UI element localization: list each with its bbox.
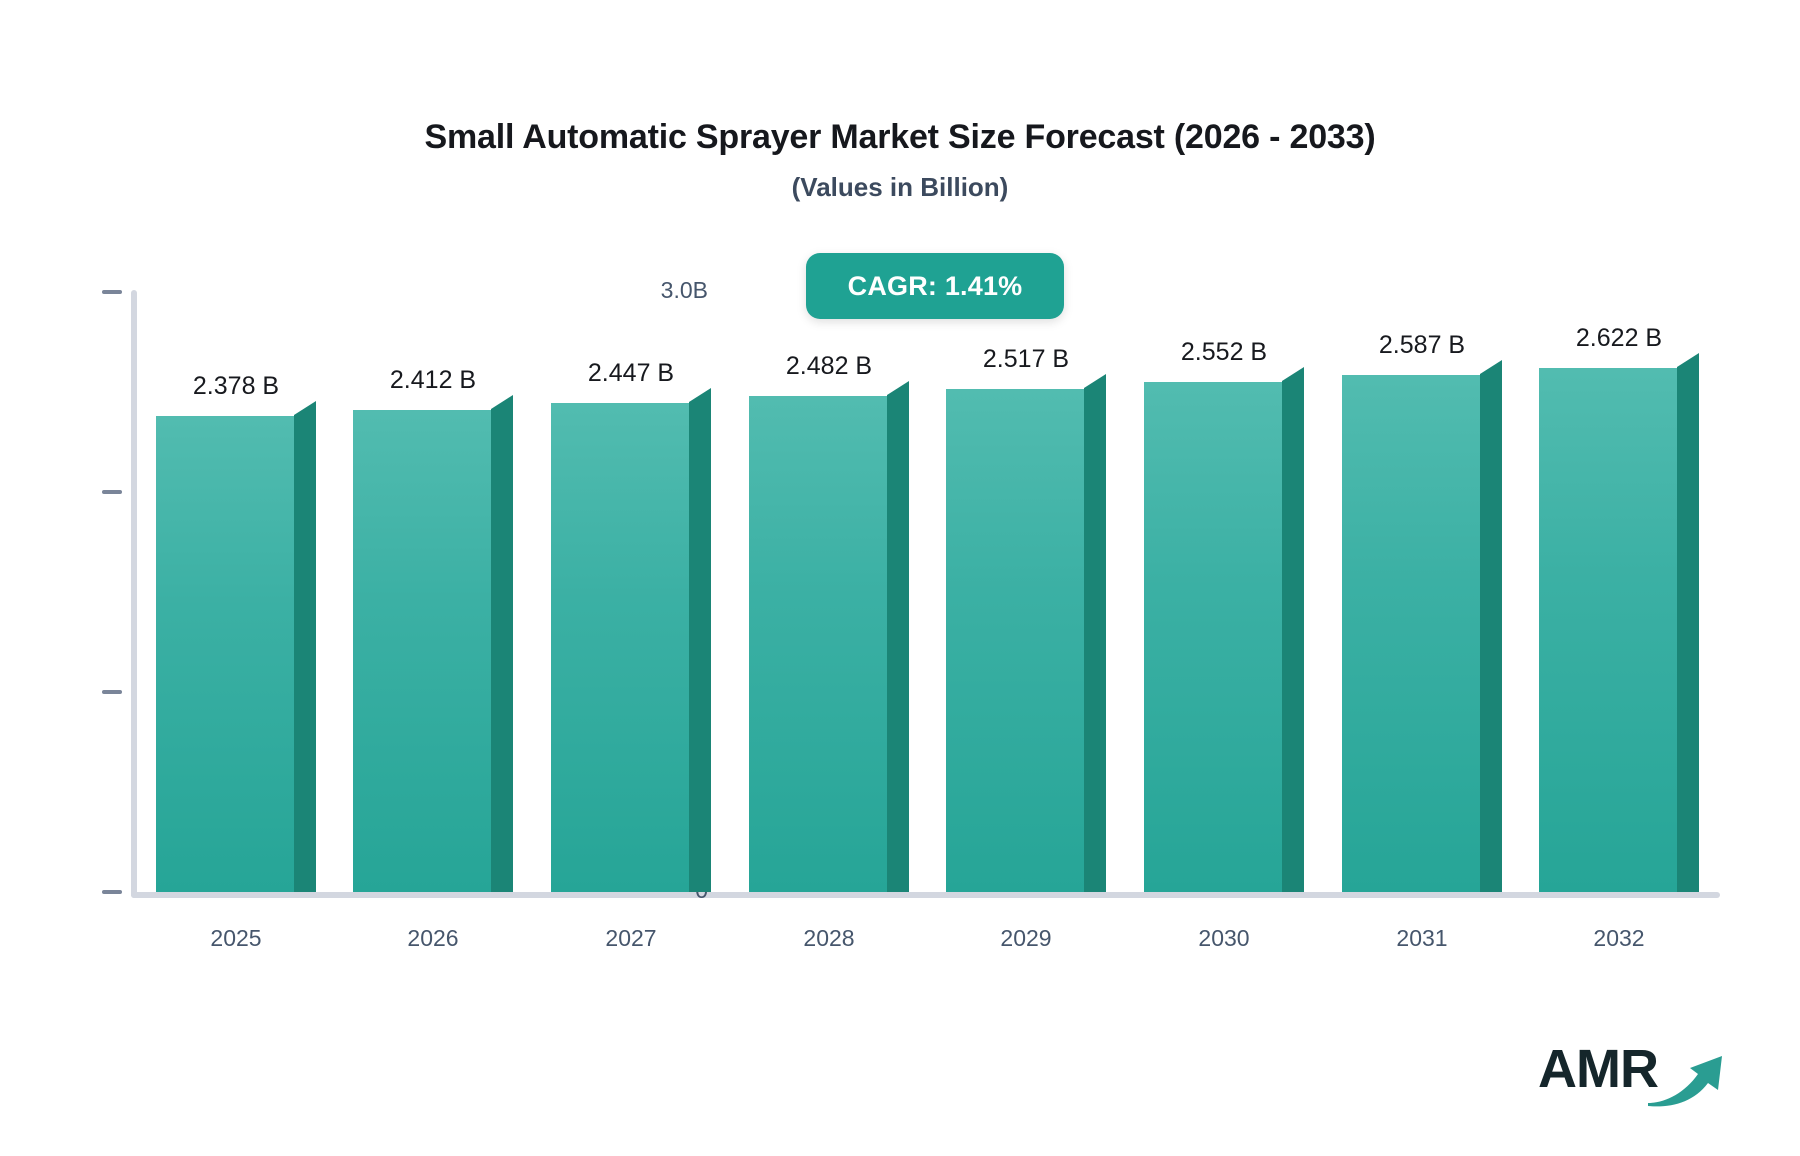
bar-side-face [294,401,316,892]
x-axis-line [131,892,1720,898]
x-axis-label: 2029 [946,925,1106,952]
bar-value-label: 2.412 B [353,366,513,395]
bar-front-face [1539,368,1677,892]
plot-area: 01.0B2.0B3.0B 2.378 B2.412 B2.447 B2.482… [0,0,1800,1156]
x-axis-label: 2026 [353,925,513,952]
x-axis-label: 2025 [156,925,316,952]
amr-logo: AMR [1538,1038,1728,1110]
bar-2031[interactable] [1342,375,1480,892]
bar-value-label: 2.482 B [749,352,909,381]
bar-value-label: 2.517 B [946,345,1106,374]
bar-front-face [353,410,491,892]
x-axis-label: 2030 [1144,925,1304,952]
bar-front-face [749,396,887,892]
x-axis-label: 2028 [749,925,909,952]
bar-2028[interactable] [749,396,887,892]
bar-2032[interactable] [1539,368,1677,892]
bar-side-face [1677,353,1699,892]
y-axis-tick [102,690,122,694]
bar-side-face [1282,367,1304,892]
chart-canvas: Small Automatic Sprayer Market Size Fore… [0,0,1800,1156]
bar-side-face [1480,360,1502,892]
bar-front-face [1342,375,1480,892]
bar-2030[interactable] [1144,382,1282,892]
y-axis-tick [102,290,122,294]
bar-side-face [491,395,513,892]
y-axis-tick [102,890,122,894]
bar-2027[interactable] [551,403,689,892]
bar-value-label: 2.622 B [1539,324,1699,353]
bar-front-face [551,403,689,892]
bar-side-face [689,388,711,892]
bar-value-label: 2.587 B [1342,331,1502,360]
bar-2025[interactable] [156,416,294,892]
bar-2029[interactable] [946,389,1084,892]
bar-front-face [1144,382,1282,892]
bar-side-face [1084,374,1106,892]
y-axis-line [131,290,137,898]
bar-value-label: 2.378 B [156,372,316,401]
bar-front-face [946,389,1084,892]
bar-value-label: 2.552 B [1144,338,1304,367]
y-axis-label: 3.0B [661,277,708,304]
bar-front-face [156,416,294,892]
growth-arrow-icon [1646,1046,1730,1108]
bar-value-label: 2.447 B [551,359,711,388]
cagr-badge-label: CAGR: 1.41% [848,271,1023,302]
x-axis-label: 2031 [1342,925,1502,952]
cagr-badge: CAGR: 1.41% [806,253,1064,319]
bar-side-face [887,381,909,892]
bar-2026[interactable] [353,410,491,892]
x-axis-label: 2032 [1539,925,1699,952]
x-axis-label: 2027 [551,925,711,952]
amr-logo-text: AMR [1538,1038,1658,1100]
y-axis-tick [102,490,122,494]
